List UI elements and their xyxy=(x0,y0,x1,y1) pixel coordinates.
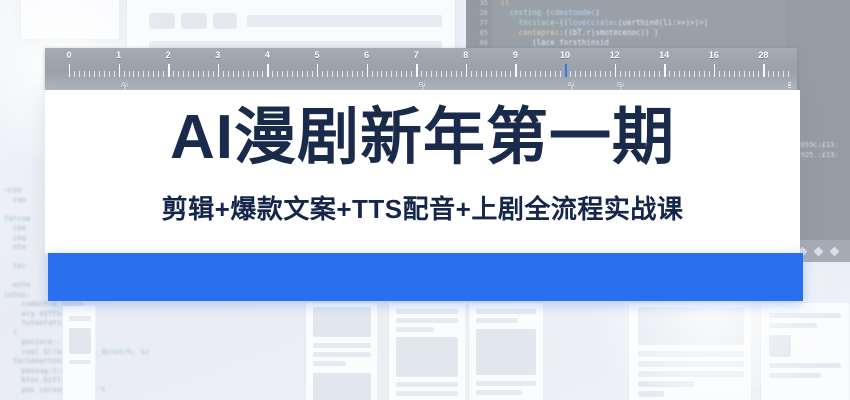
ruler-minor-tick xyxy=(158,71,159,77)
ruler-minor-tick xyxy=(396,71,397,77)
ruler-minor-tick xyxy=(183,71,184,77)
ruler-minor-tick xyxy=(505,71,506,77)
ruler-minor-tick xyxy=(753,71,754,77)
ruler-number: 16 xyxy=(709,50,719,60)
ruler-number: 4 xyxy=(265,50,270,60)
footer-dots xyxy=(799,248,838,255)
ruler-minor-tick xyxy=(84,71,85,77)
ruler-minor-tick xyxy=(441,71,442,77)
ruler-minor-tick xyxy=(282,71,283,77)
ruler-minor-tick xyxy=(406,71,407,77)
ruler-minor-tick xyxy=(312,71,313,77)
ruler-minor-tick xyxy=(327,71,328,77)
ruler-minor-tick xyxy=(486,71,487,77)
ruler-minor-tick xyxy=(272,71,273,77)
ruler-minor-tick xyxy=(124,71,125,77)
ruler-clip-marker[interactable]: Bi xyxy=(617,80,624,89)
ruler-minor-tick xyxy=(694,71,695,77)
ruler-minor-tick xyxy=(228,71,229,77)
ruler-minor-tick xyxy=(129,71,130,77)
ruler-minor-tick xyxy=(654,71,655,77)
ruler-minor-tick xyxy=(401,71,402,77)
mock-document-panel-top-left xyxy=(20,0,120,40)
ruler-number: 10 xyxy=(560,50,570,60)
ruler-number: 5 xyxy=(314,50,319,60)
ruler-minor-tick xyxy=(783,71,784,77)
ruler-minor-tick xyxy=(208,71,209,77)
ruler-minor-tick xyxy=(501,71,502,77)
ruler-minor-tick xyxy=(456,71,457,77)
ruler-minor-tick xyxy=(580,71,581,77)
ruler-minor-tick xyxy=(446,71,447,77)
ruler-number: 3 xyxy=(215,50,220,60)
ruler-minor-tick xyxy=(277,71,278,77)
ruler-minor-tick xyxy=(768,71,769,77)
ruler-minor-tick xyxy=(744,71,745,77)
ruler-minor-tick xyxy=(193,71,194,77)
ruler-minor-tick xyxy=(352,71,353,77)
ruler-major-tick xyxy=(714,64,715,77)
ruler-number: 9 xyxy=(513,50,518,60)
ruler-minor-tick xyxy=(173,71,174,77)
accent-bar xyxy=(48,253,803,301)
ruler-clip-marker[interactable]: Ai xyxy=(121,80,128,89)
ruler-overflow-icon[interactable] xyxy=(788,82,791,89)
ruler-minor-tick xyxy=(739,71,740,77)
ruler-number: 6 xyxy=(364,50,369,60)
ruler-minor-tick xyxy=(257,71,258,77)
ruler-minor-tick xyxy=(461,71,462,77)
ruler-minor-tick xyxy=(773,71,774,77)
ruler-minor-tick xyxy=(223,71,224,77)
ruler-minor-tick xyxy=(431,71,432,77)
ruler-minor-tick xyxy=(104,71,105,77)
ruler-minor-tick xyxy=(262,71,263,77)
ruler-minor-tick xyxy=(347,71,348,77)
ruler-minor-tick xyxy=(163,71,164,77)
ruler-minor-tick xyxy=(625,71,626,77)
ruler-minor-tick xyxy=(386,71,387,77)
ruler-minor-tick xyxy=(788,71,789,77)
ruler-minor-tick xyxy=(79,71,80,77)
ruler-minor-tick xyxy=(322,71,323,77)
ruler-minor-tick xyxy=(287,71,288,77)
ruler-cursor-tick xyxy=(565,64,567,77)
ruler-minor-tick xyxy=(94,71,95,77)
ruler-minor-tick xyxy=(669,71,670,77)
ruler-minor-tick xyxy=(114,71,115,77)
ruler-major-tick xyxy=(515,64,516,77)
ruler-minor-tick xyxy=(109,71,110,77)
ruler-minor-tick xyxy=(585,71,586,77)
ruler-minor-tick xyxy=(133,71,134,77)
ruler-minor-tick xyxy=(629,71,630,77)
ruler-minor-tick xyxy=(421,71,422,77)
ruler-minor-tick xyxy=(372,71,373,77)
ruler-major-tick xyxy=(763,64,764,77)
ruler-minor-tick xyxy=(649,71,650,77)
ruler-minor-tick xyxy=(143,71,144,77)
ruler-major-tick xyxy=(69,64,70,77)
ruler-minor-tick xyxy=(138,71,139,77)
ruler-minor-tick xyxy=(292,71,293,77)
ruler-minor-tick xyxy=(297,71,298,77)
ruler-minor-tick xyxy=(188,71,189,77)
ruler-minor-tick xyxy=(213,71,214,77)
ruler-minor-tick xyxy=(724,71,725,77)
ruler-minor-tick xyxy=(238,71,239,77)
ruler-major-tick xyxy=(615,64,616,77)
ruler-minor-tick xyxy=(634,71,635,77)
mock-card-5 xyxy=(628,303,752,400)
ruler-minor-tick xyxy=(639,71,640,77)
ruler-number: 28 xyxy=(758,50,768,60)
ruler-major-tick xyxy=(218,64,219,77)
ruler-minor-tick xyxy=(525,71,526,77)
ruler-numbers: 01234567891012141628 xyxy=(45,50,797,63)
ruler-minor-tick xyxy=(575,71,576,77)
ruler-minor-tick xyxy=(481,71,482,77)
ruler-minor-tick xyxy=(491,71,492,77)
ruler-minor-tick xyxy=(684,71,685,77)
ruler-minor-tick xyxy=(510,71,511,77)
ruler-minor-tick xyxy=(357,71,358,77)
ruler-minor-tick xyxy=(719,71,720,77)
ruler-minor-tick xyxy=(679,71,680,77)
ruler-minor-tick xyxy=(253,71,254,77)
ruler-minor-tick xyxy=(520,71,521,77)
ruler-minor-tick xyxy=(545,71,546,77)
ruler-minor-tick xyxy=(704,71,705,77)
ruler-minor-tick xyxy=(302,71,303,77)
mock-card-2 xyxy=(305,303,378,400)
mock-card-3 xyxy=(388,303,466,400)
mock-card-6 xyxy=(760,303,850,400)
ruler-minor-tick xyxy=(689,71,690,77)
ruler-number: 14 xyxy=(659,50,669,60)
ruler-minor-tick xyxy=(600,71,601,77)
ruler-minor-tick xyxy=(535,71,536,77)
mock-card-1 xyxy=(62,306,96,400)
ruler-minor-tick xyxy=(476,71,477,77)
ruler-minor-tick xyxy=(153,71,154,77)
ruler-minor-tick xyxy=(451,71,452,77)
ruler-number: 7 xyxy=(414,50,419,60)
ruler-minor-tick xyxy=(530,71,531,77)
ruler-number: 8 xyxy=(463,50,468,60)
ruler-minor-tick xyxy=(381,71,382,77)
ruler-minor-tick xyxy=(734,71,735,77)
ruler-minor-tick xyxy=(659,71,660,77)
ruler-minor-tick xyxy=(471,71,472,77)
ruler-major-tick xyxy=(267,64,268,77)
ruler-minor-tick xyxy=(560,71,561,77)
ruler-major-tick xyxy=(466,64,467,77)
ruler-minor-tick xyxy=(555,71,556,77)
ruler-minor-tick xyxy=(758,71,759,77)
ruler-minor-tick xyxy=(595,71,596,77)
ruler-minor-tick xyxy=(699,71,700,77)
mock-card-4 xyxy=(468,303,544,400)
poster-card: AI漫剧新年第一期 剪辑+爆款文案+TTS配音+上剧全流程实战课 xyxy=(45,90,800,253)
ruler-major-tick xyxy=(168,64,169,77)
ruler-minor-tick xyxy=(243,71,244,77)
ruler-minor-tick xyxy=(610,71,611,77)
ruler-minor-tick xyxy=(74,71,75,77)
page-subtitle: 剪辑+爆款文案+TTS配音+上剧全流程实战课 xyxy=(45,190,800,228)
ruler-number: 2 xyxy=(166,50,171,60)
ruler-minor-tick xyxy=(550,71,551,77)
ruler-minor-tick xyxy=(496,71,497,77)
poster-canvas: —coo cao fatcom coo coq nte tec ente cot… xyxy=(0,0,850,400)
ruler-minor-tick xyxy=(426,71,427,77)
page-title: AI漫剧新年第一期 xyxy=(45,98,800,178)
ruler-minor-tick xyxy=(203,71,204,77)
ruler-number: 0 xyxy=(66,50,71,60)
ruler-minor-tick xyxy=(620,71,621,77)
ruler-minor-tick xyxy=(436,71,437,77)
ruler-minor-tick xyxy=(307,71,308,77)
ruler-minor-tick xyxy=(148,71,149,77)
ruler-minor-tick xyxy=(778,71,779,77)
ruler-minor-tick xyxy=(709,71,710,77)
ruler-major-tick xyxy=(416,64,417,77)
ruler-minor-tick xyxy=(89,71,90,77)
ruler-minor-tick xyxy=(570,71,571,77)
ruler-major-tick xyxy=(367,64,368,77)
ruler-minor-tick xyxy=(233,71,234,77)
timeline-ruler[interactable]: 01234567891012141628 AiBiAiBi xyxy=(45,48,797,90)
ruler-minor-tick xyxy=(729,71,730,77)
ruler-number: 1 xyxy=(116,50,121,60)
ruler-minor-tick xyxy=(674,71,675,77)
ruler-ticks xyxy=(45,63,797,77)
ruler-minor-tick xyxy=(411,71,412,77)
ruler-minor-tick xyxy=(605,71,606,77)
ruler-minor-tick xyxy=(377,71,378,77)
ruler-minor-tick xyxy=(540,71,541,77)
ruler-minor-tick xyxy=(342,71,343,77)
ruler-minor-tick xyxy=(248,71,249,77)
ruler-minor-tick xyxy=(362,71,363,77)
ruler-minor-tick xyxy=(391,71,392,77)
ruler-clip-marker[interactable]: Ai xyxy=(567,80,574,89)
ruler-minor-tick xyxy=(590,71,591,77)
ruler-major-tick xyxy=(664,64,665,77)
ruler-minor-tick xyxy=(644,71,645,77)
ruler-minor-tick xyxy=(198,71,199,77)
ruler-minor-tick xyxy=(99,71,100,77)
ruler-clip-marker[interactable]: Bi xyxy=(419,80,426,89)
ruler-number: 12 xyxy=(610,50,620,60)
mock-document-panel-top xyxy=(126,0,456,52)
ruler-minor-tick xyxy=(749,71,750,77)
ruler-major-tick xyxy=(119,64,120,77)
ruler-major-tick xyxy=(317,64,318,77)
ruler-minor-tick xyxy=(332,71,333,77)
ruler-minor-tick xyxy=(337,71,338,77)
ruler-minor-tick xyxy=(178,71,179,77)
